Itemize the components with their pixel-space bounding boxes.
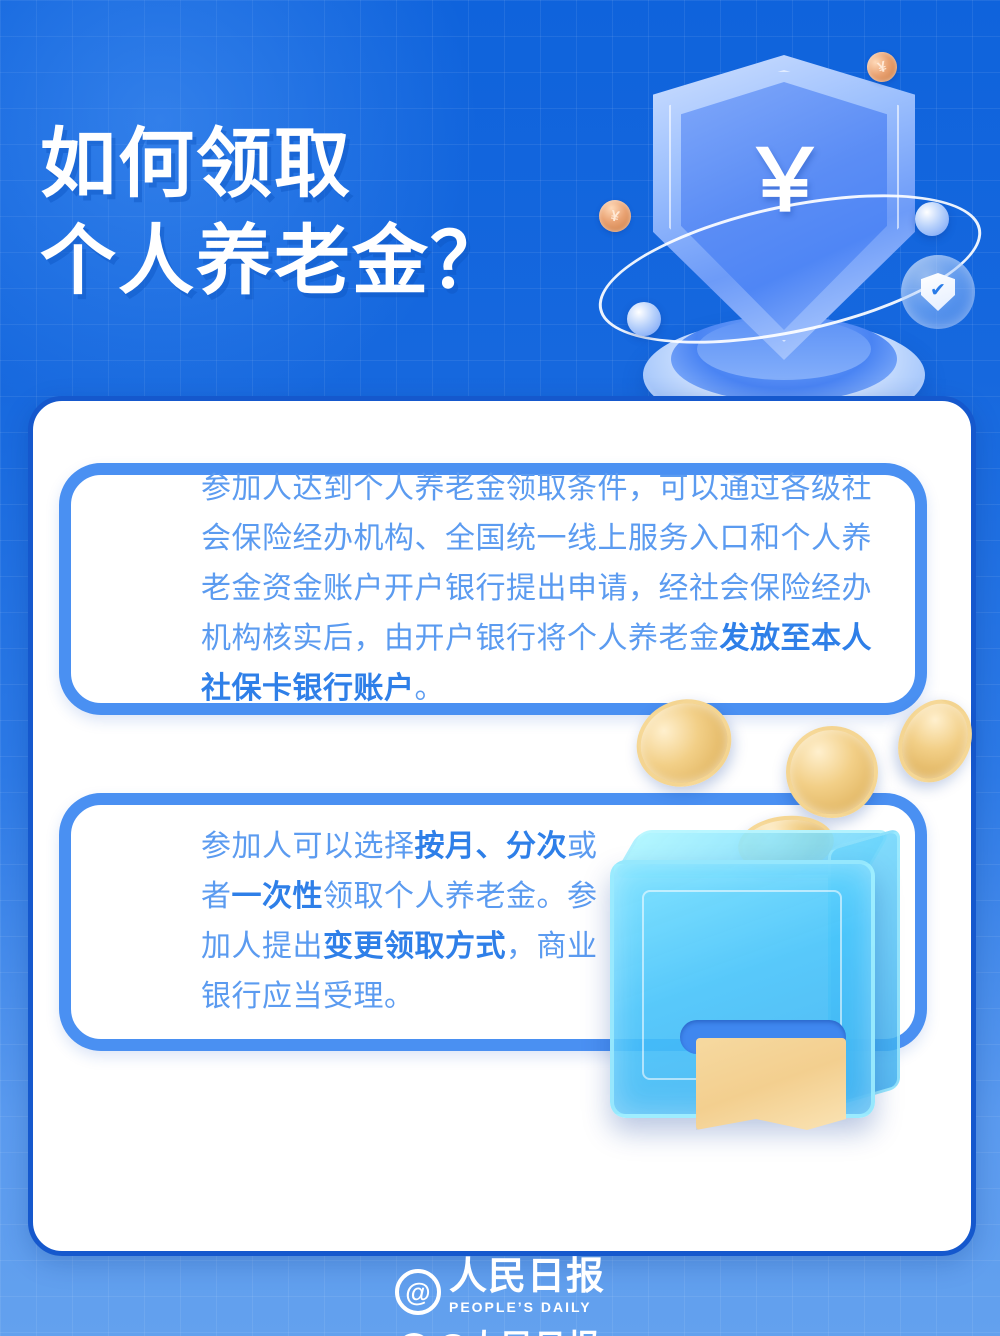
coin-icon: ¥ — [863, 48, 901, 86]
shield-illustration: ￥ ✔ ¥ ¥ — [585, 30, 1000, 450]
gold-coin-icon — [786, 726, 878, 818]
orbit-node-icon — [915, 202, 949, 236]
weibo-row: @人民日报 — [400, 1321, 600, 1336]
page-title: 如何领取 个人养老金？ — [40, 116, 508, 311]
banknote-icon — [696, 1038, 846, 1130]
gold-coin-icon — [884, 687, 986, 796]
footer: @ 人民日报 PEOPLE’S DAILY @人民日报 — [0, 1258, 1000, 1336]
badge-shield-icon: ✔ — [921, 273, 955, 311]
info-card-1-text: 参加人达到个人养老金领取条件，可以通过各级社会保险经办机构、全国统一线上服务入口… — [71, 464, 915, 714]
gold-coin-icon — [623, 685, 744, 801]
brand-name: 人民日报 — [449, 1258, 605, 1296]
moneybox-illustration — [600, 690, 1000, 1190]
check-icon: ✔ — [930, 281, 946, 300]
weibo-handle: @人民日报 — [436, 1321, 600, 1336]
coin-icon: ¥ — [596, 197, 634, 235]
verified-badge-icon: ✔ — [901, 255, 975, 329]
poster-root: 如何领取 个人养老金？ ￥ ✔ ¥ ¥ 参加人达到个人养老金领取条件，可以通过各… — [0, 0, 1000, 1336]
at-logo-icon: @ — [395, 1269, 441, 1315]
brand-name-en: PEOPLE’S DAILY — [449, 1299, 605, 1315]
orbit-node-icon — [627, 302, 661, 336]
brand-row: @ 人民日报 PEOPLE’S DAILY — [395, 1258, 605, 1315]
info-card-1: 参加人达到个人养老金领取条件，可以通过各级社会保险经办机构、全国统一线上服务入口… — [59, 463, 927, 715]
